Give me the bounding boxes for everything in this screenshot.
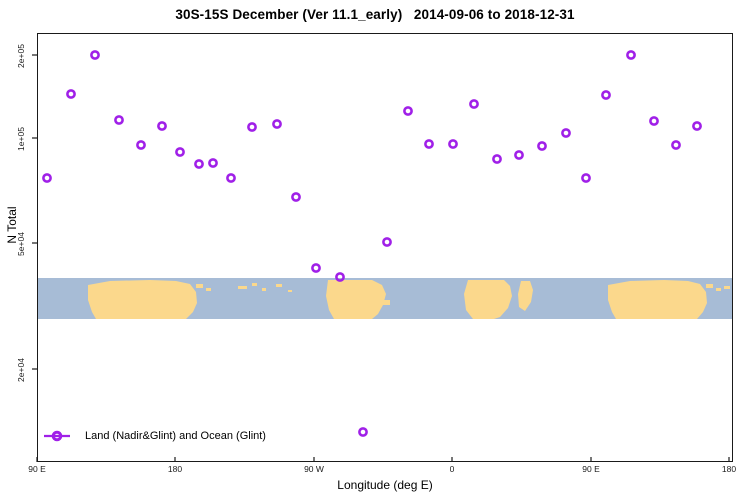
x-tick-label: 90 W	[294, 464, 334, 474]
x-tick-label: 0	[432, 464, 472, 474]
x-tick-label: 180	[709, 464, 749, 474]
y-axis-title: N Total	[5, 125, 19, 325]
legend-label: Land (Nadir&Glint) and Ocean (Glint)	[85, 430, 266, 442]
chart-root: 30S-15S December (Ver 11.1_early) 2014-0…	[0, 0, 750, 500]
plot-frame	[37, 33, 733, 462]
y-tick-label: 2e+04	[16, 357, 26, 383]
x-tick-label: 90 E	[571, 464, 611, 474]
y-tick-label: 1e+05	[16, 126, 26, 152]
x-axis-title: Longitude (deg E)	[37, 478, 733, 492]
x-tick-label: 90 E	[17, 464, 57, 474]
chart-title: 30S-15S December (Ver 11.1_early) 2014-0…	[0, 7, 750, 22]
y-tick-label: 2e+05	[16, 43, 26, 69]
y-tick-label: 5e+04	[16, 231, 26, 257]
chart-legend: Land (Nadir&Glint) and Ocean (Glint)	[38, 424, 266, 448]
x-tick-label: 180	[155, 464, 195, 474]
